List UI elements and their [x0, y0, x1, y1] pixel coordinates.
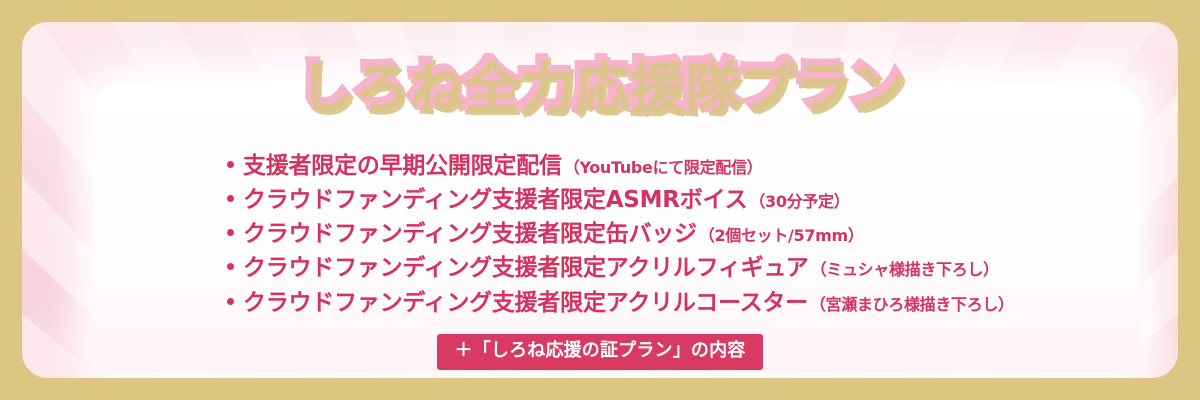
benefit-note-text: （2個セット/57mm）: [699, 222, 864, 246]
list-item: クラウドファンディング支援者限定缶バッジ （2個セット/57mm）: [227, 221, 1014, 248]
benefits-list: 支援者限定の早期公開限定配信 （YouTubeにて限定配信） クラウドファンディ…: [227, 153, 1014, 324]
benefit-main-text: クラウドファンディング支援者限定ASMRボイス: [243, 187, 747, 214]
list-item: クラウドファンディング支援者限定アクリルフィギュア （ミュシャ様描き下ろし）: [227, 255, 1014, 282]
status-badge: ＋「しろね応援の証プラン」の内容: [437, 334, 764, 370]
benefit-main-text: クラウドファンディング支援者限定アクリルコースター: [243, 290, 808, 317]
page-title-text: しろね全力応援隊プラン: [297, 58, 903, 112]
benefit-main-text: クラウドファンディング支援者限定缶バッジ: [243, 221, 697, 248]
bullet-dot-icon: [227, 195, 234, 202]
sunburst-stage: しろね全力応援隊プラン 支援者限定の早期公開限定配信 （YouTubeにて限定配…: [22, 22, 1178, 378]
benefit-note-text: （30分予定）: [749, 188, 849, 212]
footer-badge-wrap: ＋「しろね応援の証プラン」の内容: [22, 334, 1178, 370]
list-item: クラウドファンディング支援者限定アクリルコースター （宮瀬まひろ様描き下ろし）: [227, 290, 1014, 317]
page-title: しろね全力応援隊プラン: [22, 58, 1178, 112]
list-item: 支援者限定の早期公開限定配信 （YouTubeにて限定配信）: [227, 153, 1014, 180]
benefit-note-text: （宮瀬まひろ様描き下ろし）: [810, 291, 1014, 315]
bullet-dot-icon: [227, 229, 234, 236]
bullet-dot-icon: [227, 161, 234, 168]
benefit-main-text: 支援者限定の早期公開限定配信: [243, 153, 562, 180]
benefit-note-text: （ミュシャ様描き下ろし）: [811, 256, 999, 280]
bullet-dot-icon: [227, 263, 234, 270]
list-item: クラウドファンディング支援者限定ASMRボイス （30分予定）: [227, 187, 1014, 214]
bullet-dot-icon: [227, 298, 234, 305]
plan-card-frame: しろね全力応援隊プラン 支援者限定の早期公開限定配信 （YouTubeにて限定配…: [0, 0, 1200, 400]
benefit-main-text: クラウドファンディング支援者限定アクリルフィギュア: [243, 255, 809, 282]
benefit-note-text: （YouTubeにて限定配信）: [564, 154, 763, 178]
